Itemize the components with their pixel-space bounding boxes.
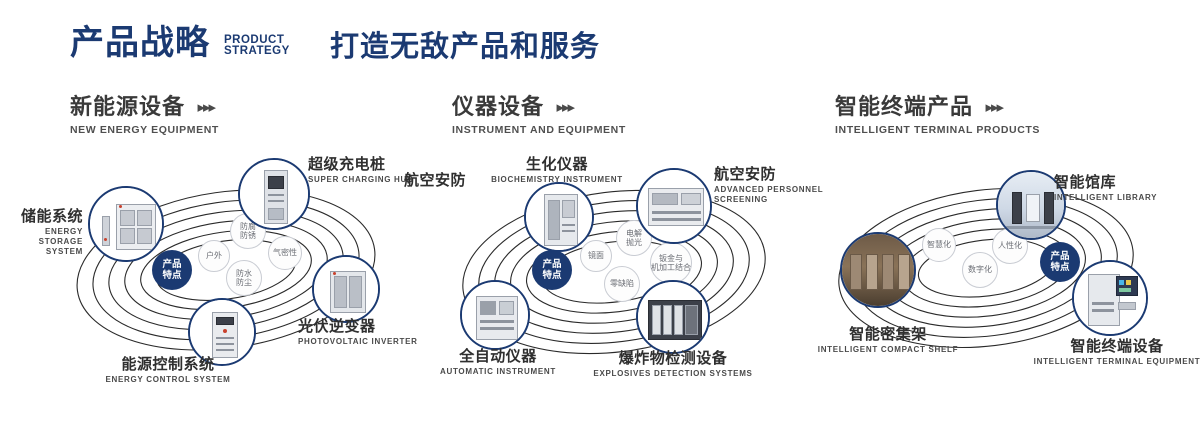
label-cn: 能源控制系统 (68, 356, 268, 373)
feature-label: 人性化 (998, 241, 1022, 251)
label-en: INTELLIGENT COMPACT SHELF (798, 345, 978, 355)
feature-label: 数字化 (968, 265, 992, 275)
section-title-cn: 新能源设备 (70, 95, 185, 119)
screening-machine-icon (638, 170, 710, 242)
section-subtitle-en: INTELLIGENT TERMINAL PRODUCTS (835, 124, 1040, 136)
core-label-line1: 产品 (1050, 251, 1069, 262)
feature-label-line2: 机加工结合 (651, 263, 691, 273)
core-label-line2: 特点 (1050, 262, 1069, 273)
node-biochemistry-instrument[interactable] (524, 182, 594, 252)
page-header: 产品战略 PRODUCT STRATEGY (70, 26, 290, 60)
label-cn: 储能系统 (5, 208, 83, 225)
core-label-line1: 产品 (162, 259, 181, 270)
charging-pile-icon (240, 160, 308, 228)
feature-bubble-sheetmetal-machining: 钣金与 机加工结合 (650, 242, 692, 284)
chevron-right-icon: ▸▸▸ (556, 98, 573, 116)
feature-bubble-intelligent: 智慧化 (922, 228, 956, 262)
label-en: AUTOMATIC INSTRUMENT (414, 367, 582, 377)
label-cn: 航空安防 (386, 172, 466, 189)
label-biochemistry-instrument: 生化仪器 BIOCHEMISTRY INSTRUMENT (462, 156, 652, 185)
inverter-cabinet-icon (314, 257, 378, 321)
biochemistry-instrument-icon (526, 184, 592, 250)
label-energy-storage-system: 储能系统 ENERGY STORAGE SYSTEM (5, 208, 83, 257)
feature-label: 智慧化 (927, 240, 951, 250)
compact-shelf-icon (842, 234, 914, 306)
label-en: INTELLIGENT LIBRARY (1054, 193, 1200, 203)
node-intelligent-terminal-equipment[interactable] (1072, 260, 1148, 336)
label-intelligent-compact-shelf: 智能密集架 INTELLIGENT COMPACT SHELF (798, 326, 978, 355)
energy-storage-cabinet-icon (90, 188, 162, 260)
feature-label-line2: 防尘 (236, 278, 252, 288)
label-aviation-security-left: 航空安防 (386, 172, 466, 189)
label-cn: 全自动仪器 (414, 348, 582, 365)
node-advanced-personnel-screening[interactable] (636, 168, 712, 244)
label-cn: 光伏逆变器 (298, 318, 448, 335)
core-bubble-product-features: 产品 特点 (532, 250, 572, 290)
node-explosives-detection-systems[interactable] (636, 280, 710, 354)
label-photovoltaic-inverter: 光伏逆变器 PHOTOVOLTAIC INVERTER (298, 318, 448, 347)
node-photovoltaic-inverter[interactable] (312, 255, 380, 323)
feature-bubble-zero-defect: 零缺陷 (604, 266, 640, 302)
label-cn: 智能密集架 (798, 326, 978, 343)
label-en: PHOTOVOLTAIC INVERTER (298, 337, 448, 347)
feature-label: 户外 (206, 251, 222, 261)
label-intelligent-terminal-equipment: 智能终端设备 INTELLIGENT TERMINAL EQUIPMENT (1022, 338, 1200, 367)
chevron-right-icon: ▸▸▸ (197, 98, 214, 116)
label-automatic-instrument: 全自动仪器 AUTOMATIC INSTRUMENT (414, 348, 582, 377)
label-en: ENERGY STORAGE SYSTEM (5, 227, 83, 257)
page-headline: 打造无敌产品和服务 (330, 32, 600, 64)
label-en: EXPLOSIVES DETECTION SYSTEMS (580, 369, 766, 379)
core-label-line2: 特点 (162, 270, 181, 281)
feature-bubble-outdoor: 户外 (198, 240, 230, 272)
diagram-instrument: 产品 特点 镜面 电解 抛光 钣金与 机加工结合 零缺陷 航空安防 生化仪器 B… (432, 150, 832, 410)
control-cabinet-icon (190, 300, 254, 364)
label-intelligent-library: 智能馆库 INTELLIGENT LIBRARY (1054, 174, 1200, 203)
label-cn: 智能终端设备 (1022, 338, 1200, 355)
terminal-kiosk-icon (1074, 262, 1146, 334)
section-title-new-energy: 新能源设备 ▸▸▸ NEW ENERGY EQUIPMENT (70, 95, 219, 136)
label-energy-control-system: 能源控制系统 ENERGY CONTROL SYSTEM (68, 356, 268, 385)
label-en: ENERGY CONTROL SYSTEM (68, 375, 268, 385)
brand-title-en: PRODUCT STRATEGY (224, 35, 290, 60)
brand-title-cn: 产品战略 (70, 26, 210, 60)
automatic-instrument-icon (462, 282, 528, 348)
feature-label-line1: 钣金与 (659, 254, 683, 264)
diagram-new-energy: 产品 特点 户外 防腐 防锈 防水 防尘 气密性 储能系统 ENERGY STO… (40, 150, 440, 410)
feature-label: 零缺陷 (610, 279, 634, 289)
feature-label-line1: 防水 (236, 269, 252, 279)
label-cn: 智能馆库 (1054, 174, 1200, 191)
feature-label: 气密性 (273, 248, 297, 258)
label-en: INTELLIGENT TERMINAL EQUIPMENT (1022, 357, 1200, 367)
section-subtitle-en: NEW ENERGY EQUIPMENT (70, 124, 219, 136)
diagram-intelligent-terminal: 智慧化 数字化 人性化 产品 特点 智能馆库 INTELLIGENT LIBRA… (810, 150, 1200, 410)
label-en: BIOCHEMISTRY INSTRUMENT (462, 175, 652, 185)
feature-label: 镜面 (588, 251, 604, 261)
node-automatic-instrument[interactable] (460, 280, 530, 350)
section-title-cn: 智能终端产品 (835, 95, 973, 119)
label-cn: 超级充电桩 (308, 156, 418, 173)
section-title-cn: 仪器设备 (452, 95, 544, 119)
chevron-right-icon: ▸▸▸ (985, 98, 1002, 116)
section-title-intelligent-terminal: 智能终端产品 ▸▸▸ INTELLIGENT TERMINAL PRODUCTS (835, 95, 1040, 136)
feature-bubble-waterproof: 防水 防尘 (226, 260, 262, 296)
section-subtitle-en: INSTRUMENT AND EQUIPMENT (452, 124, 626, 136)
explosives-detector-icon (638, 282, 708, 352)
core-label-line1: 产品 (542, 259, 561, 270)
core-label-line2: 特点 (542, 270, 561, 281)
feature-bubble-digital: 数字化 (962, 252, 998, 288)
label-cn: 爆炸物检测设备 (580, 350, 766, 367)
node-energy-storage-system[interactable] (88, 186, 164, 262)
label-explosives-detection-systems: 爆炸物检测设备 EXPLOSIVES DETECTION SYSTEMS (580, 350, 766, 379)
node-intelligent-compact-shelf[interactable] (840, 232, 916, 308)
node-super-charging-hub[interactable] (238, 158, 310, 230)
label-cn: 生化仪器 (462, 156, 652, 173)
brand-title-en-line2: STRATEGY (224, 46, 290, 57)
section-title-instrument: 仪器设备 ▸▸▸ INSTRUMENT AND EQUIPMENT (452, 95, 626, 136)
feature-label-line2: 防锈 (240, 231, 256, 241)
feature-bubble-airtightness: 气密性 (268, 236, 302, 270)
